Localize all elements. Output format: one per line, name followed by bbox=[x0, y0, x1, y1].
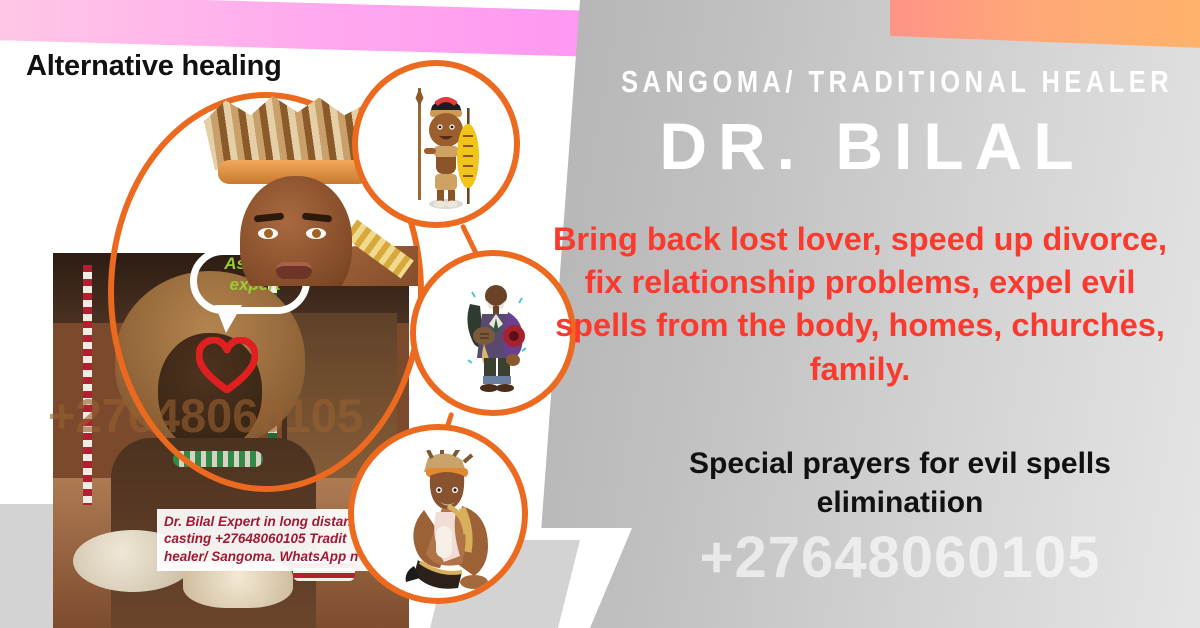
bottom-left-gray-chip bbox=[0, 504, 54, 628]
special-prayers-text: Special prayers for evil spells eliminat… bbox=[620, 444, 1180, 522]
kicker-text: SANGOMA/ TRADITIONAL HEALER bbox=[621, 64, 1123, 100]
circle-zulu-warrior bbox=[352, 60, 520, 228]
portrait-mouth bbox=[276, 262, 312, 279]
top-left-pink-band bbox=[0, 0, 600, 57]
phone-number-large: +27648060105 bbox=[620, 524, 1180, 591]
caption-line-3: healer/ Sangoma. WhatsApp n bbox=[164, 548, 381, 565]
portrait-brow-right bbox=[302, 212, 333, 222]
crouching-sangoma-icon bbox=[384, 450, 504, 590]
doctor-name: DR. BILAL bbox=[566, 108, 1178, 184]
portrait-brow-left bbox=[254, 212, 285, 222]
caption-line-2: casting +27648060105 Tradit bbox=[164, 530, 381, 547]
healer-cloak-icon bbox=[456, 278, 536, 398]
poster-canvas: Alternative healing +27648060105 Ask the… bbox=[0, 0, 1200, 628]
page-title: Alternative healing bbox=[26, 50, 282, 83]
circle-crouching-sangoma bbox=[348, 424, 528, 604]
photo-bead-strand-left bbox=[83, 265, 92, 505]
portrait-eye-right bbox=[306, 228, 326, 239]
zulu-warrior-icon bbox=[406, 86, 480, 214]
portrait-eye-left bbox=[258, 228, 278, 239]
services-text: Bring back lost lover, speed up divorce,… bbox=[540, 218, 1180, 391]
